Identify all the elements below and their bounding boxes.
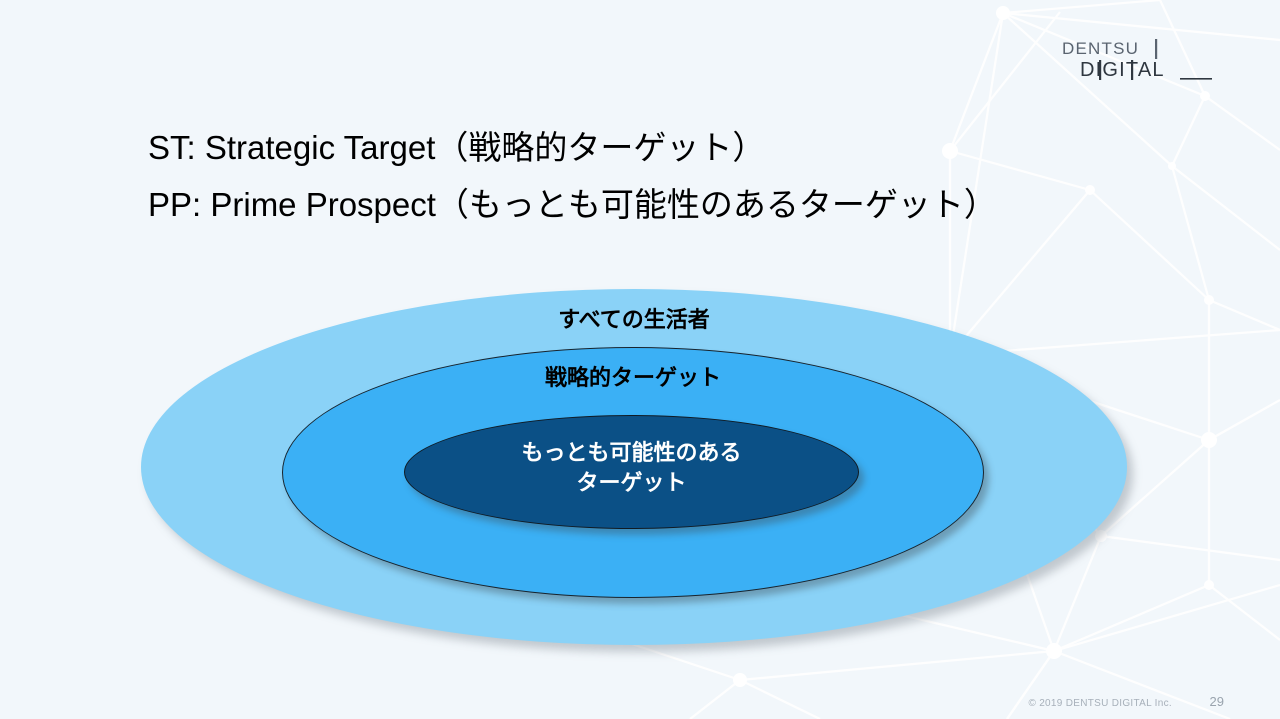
footer-page-number: 29 (1206, 694, 1224, 709)
ellipse-prime-prospect: もっとも可能性のある ターゲット (404, 415, 859, 529)
concentric-ellipse-diagram: すべての生活者 戦略的ターゲット もっとも可能性のある ターゲット (0, 0, 1280, 719)
footer-copyright: © 2019 DENTSU DIGITAL Inc. (1028, 698, 1172, 709)
ellipse-label-all-consumers: すべての生活者 (141, 302, 1127, 334)
footer: © 2019 DENTSU DIGITAL Inc. 29 (1028, 694, 1224, 709)
ellipse-label-prime-prospect-line2: ターゲット (405, 468, 858, 498)
slide: DENTSU DIGITAL ST: Strategic Target（戦略的タ… (0, 0, 1280, 719)
ellipse-label-strategic-target: 戦略的ターゲット (283, 360, 983, 392)
ellipse-label-prime-prospect-line1: もっとも可能性のある (405, 438, 858, 468)
ellipse-label-prime-prospect: もっとも可能性のある ターゲット (405, 438, 858, 498)
